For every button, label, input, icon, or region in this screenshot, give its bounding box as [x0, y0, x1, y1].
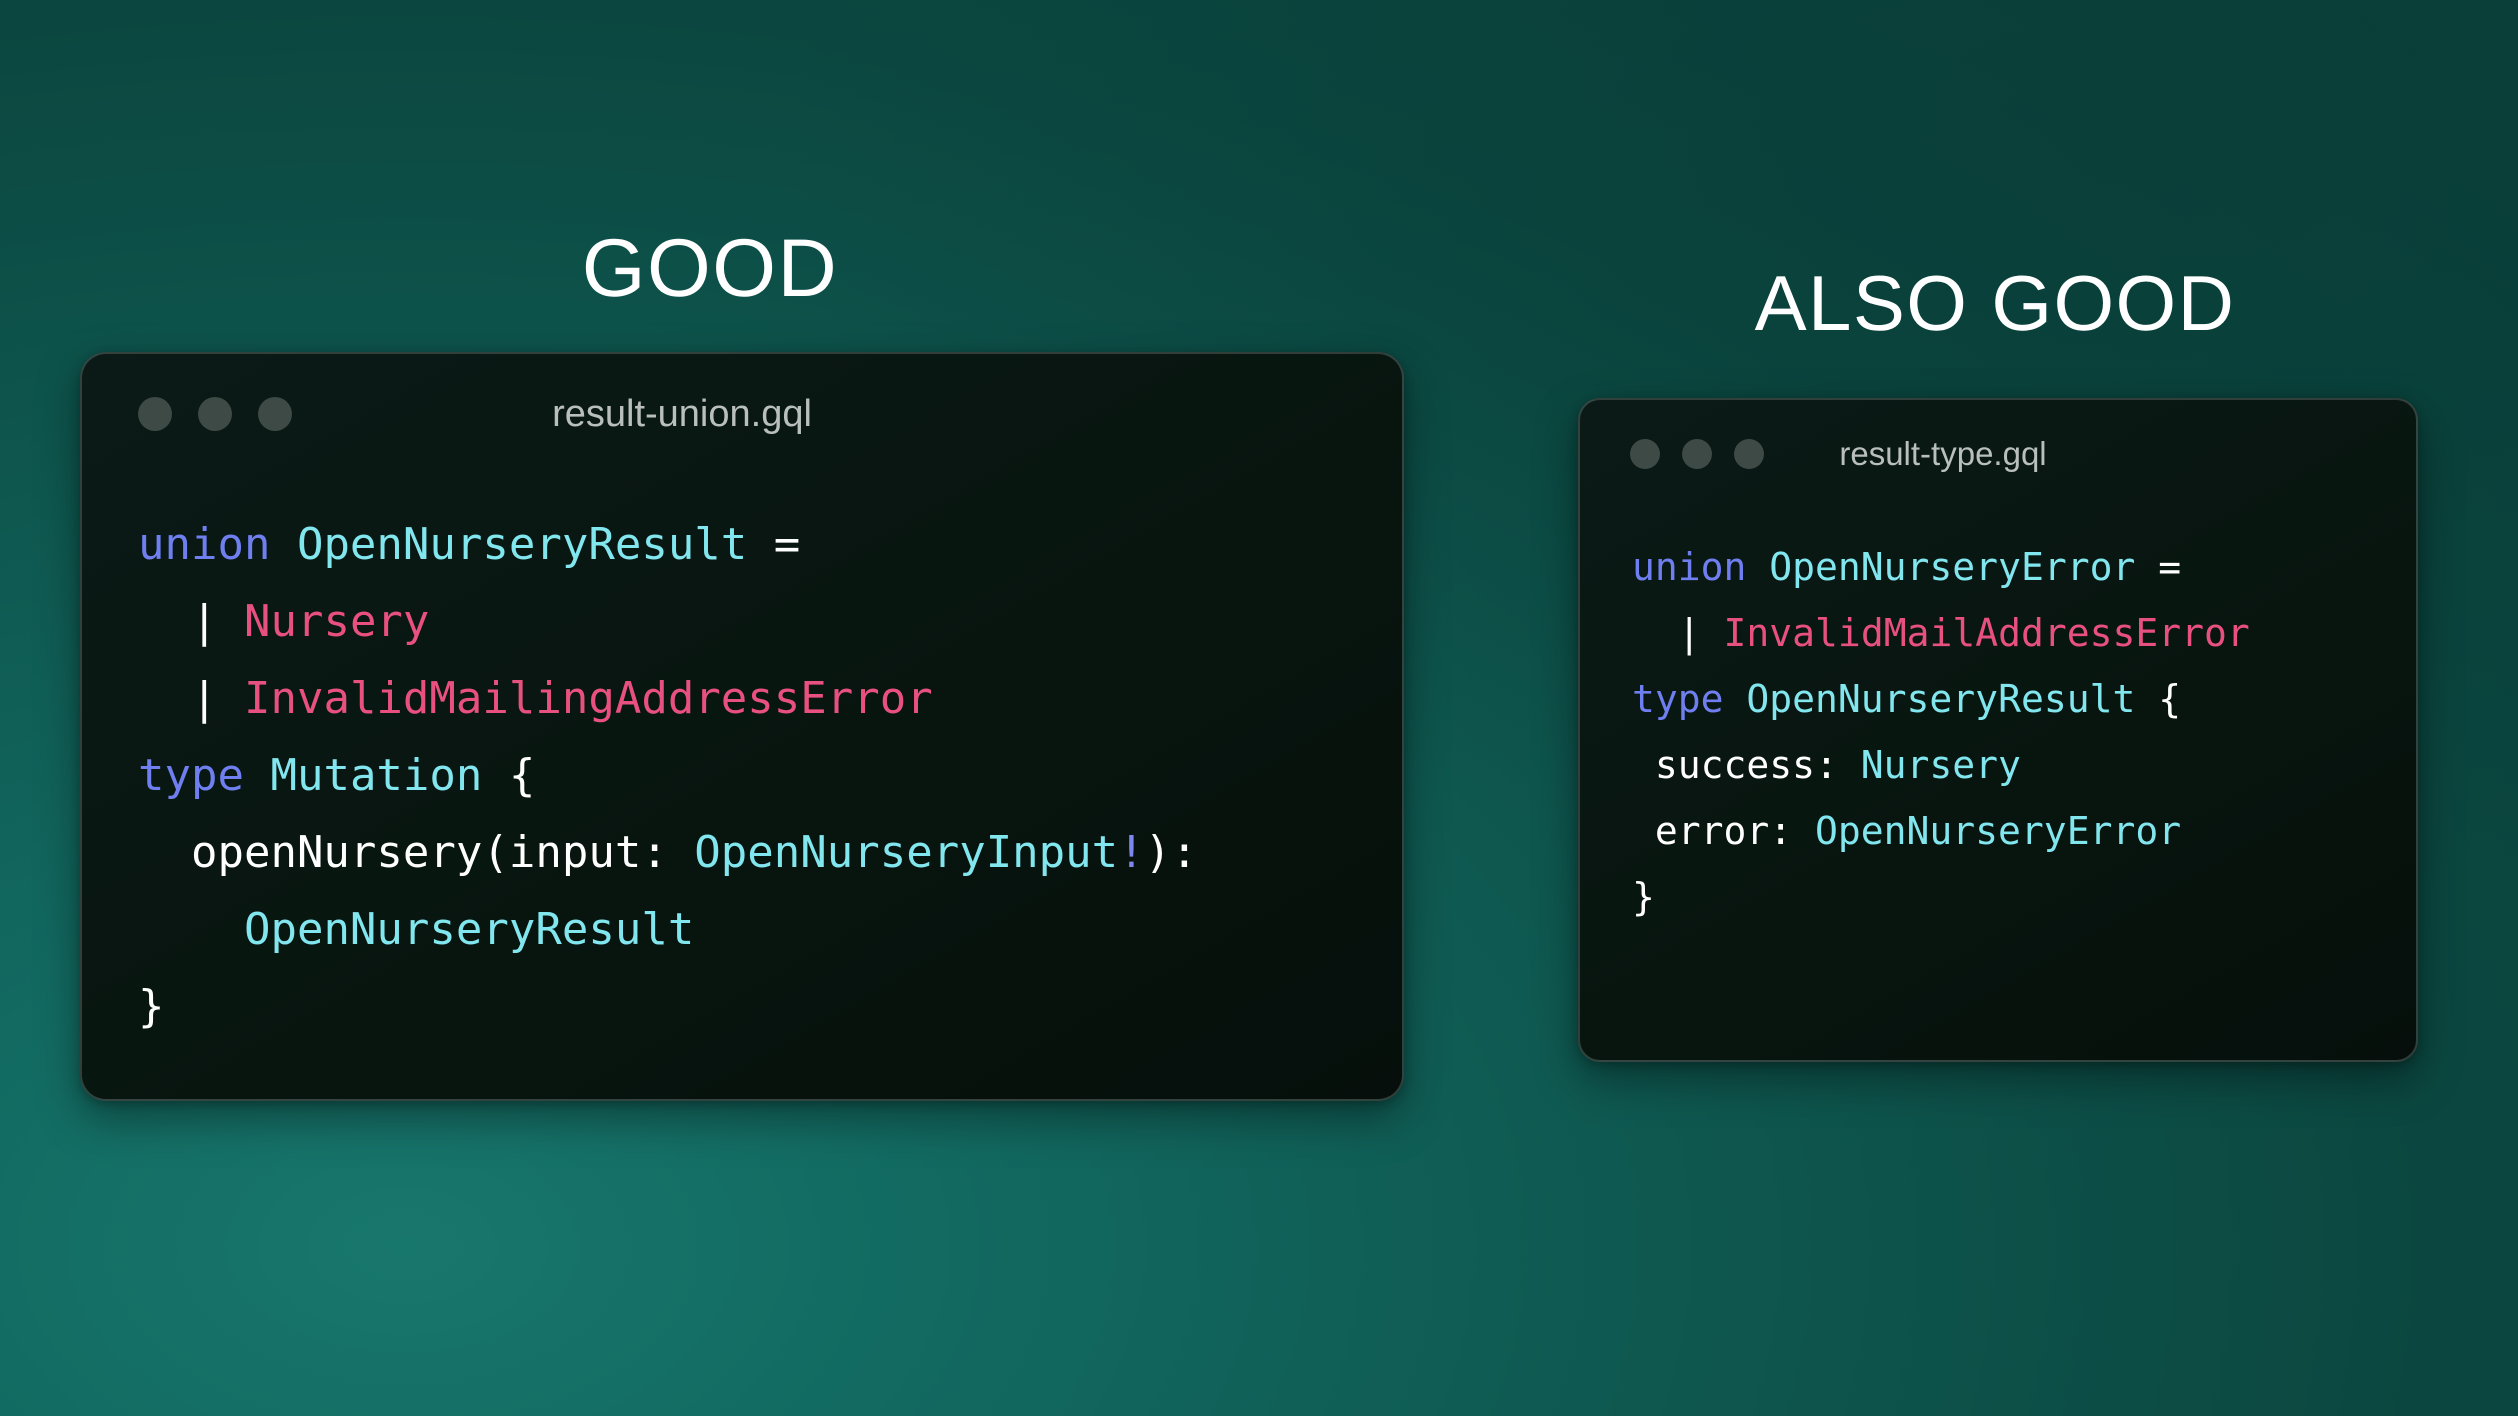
- code-token-punct: {: [2135, 677, 2181, 721]
- code-line: OpenNurseryResult: [138, 891, 1346, 968]
- code-line: union OpenNurseryResult =: [138, 506, 1346, 583]
- code-token-type: Mutation: [270, 750, 482, 801]
- code-line: openNursery(input: OpenNurseryInput!):: [138, 814, 1346, 891]
- code-token-keyword: union: [138, 519, 270, 570]
- code-token-type: Nursery: [1861, 743, 2021, 787]
- panel-heading-good: GOOD: [0, 228, 1420, 310]
- code-token-plain: [138, 673, 191, 724]
- code-token-type: OpenNurseryResult: [297, 519, 747, 570]
- code-line: type OpenNurseryResult {: [1632, 666, 2364, 732]
- code-token-type: OpenNurseryResult: [244, 904, 694, 955]
- code-line: success: Nursery: [1632, 732, 2364, 798]
- code-block-also-good: union OpenNurseryError = | InvalidMailAd…: [1580, 508, 2416, 930]
- code-token-plain: error:: [1632, 809, 1815, 853]
- code-token-type: OpenNurseryError: [1769, 545, 2135, 589]
- minimize-dot-icon[interactable]: [198, 397, 232, 431]
- code-token-pipe: |: [1678, 611, 1701, 655]
- code-line: | InvalidMailingAddressError: [138, 660, 1346, 737]
- code-token-error: Nursery: [244, 596, 429, 647]
- code-token-plain: [1724, 677, 1747, 721]
- code-token-pipe: |: [191, 673, 218, 724]
- code-block-good: union OpenNurseryResult = | Nursery | In…: [82, 474, 1402, 1045]
- code-token-plain: [1632, 611, 1678, 655]
- code-token-punct: }: [138, 981, 165, 1032]
- code-token-plain: success:: [1632, 743, 1861, 787]
- code-token-punct: }: [1632, 875, 1655, 919]
- code-line: }: [138, 968, 1346, 1045]
- code-token-pipe: |: [191, 596, 218, 647]
- code-token-plain: [1746, 545, 1769, 589]
- code-token-plain: [217, 596, 244, 647]
- code-line: union OpenNurseryError =: [1632, 534, 2364, 600]
- panel-heading-also-good: ALSO GOOD: [1580, 264, 2410, 342]
- code-token-plain: [244, 750, 271, 801]
- code-line: }: [1632, 864, 2364, 930]
- code-token-plain: [138, 904, 244, 955]
- code-token-punct: ):: [1145, 827, 1198, 878]
- close-dot-icon[interactable]: [1630, 439, 1660, 469]
- maximize-dot-icon[interactable]: [258, 397, 292, 431]
- code-token-error: InvalidMailAddressError: [1724, 611, 2250, 655]
- code-window-also-good: result-type.gql union OpenNurseryError =…: [1578, 398, 2418, 1062]
- code-token-plain: =: [2135, 545, 2204, 589]
- code-token-bang: !: [1118, 827, 1145, 878]
- code-line: | Nursery: [138, 583, 1346, 660]
- code-line: | InvalidMailAddressError: [1632, 600, 2364, 666]
- code-token-plain: =: [747, 519, 826, 570]
- code-token-type: OpenNurseryResult: [1746, 677, 2135, 721]
- code-token-keyword: union: [1632, 545, 1746, 589]
- code-token-keyword: type: [138, 750, 244, 801]
- code-token-keyword: type: [1632, 677, 1724, 721]
- minimize-dot-icon[interactable]: [1682, 439, 1712, 469]
- code-window-good: result-union.gql union OpenNurseryResult…: [80, 352, 1404, 1101]
- code-token-plain: [217, 673, 244, 724]
- window-controls-good: [138, 397, 292, 431]
- code-token-type: OpenNurseryError: [1815, 809, 2181, 853]
- code-token-plain: openNursery(input:: [138, 827, 694, 878]
- code-line: type Mutation {: [138, 737, 1346, 814]
- code-token-plain: [1701, 611, 1724, 655]
- titlebar-also-good: result-type.gql: [1580, 400, 2416, 508]
- close-dot-icon[interactable]: [138, 397, 172, 431]
- titlebar-good: result-union.gql: [82, 354, 1402, 474]
- code-token-plain: [270, 519, 297, 570]
- slide-stage: GOOD result-union.gql union OpenNurseryR…: [0, 0, 2518, 1416]
- code-token-plain: [138, 596, 191, 647]
- maximize-dot-icon[interactable]: [1734, 439, 1764, 469]
- code-token-punct: {: [482, 750, 535, 801]
- window-controls-also-good: [1630, 439, 1764, 469]
- code-line: error: OpenNurseryError: [1632, 798, 2364, 864]
- code-token-error: InvalidMailingAddressError: [244, 673, 933, 724]
- code-token-type: OpenNurseryInput: [694, 827, 1118, 878]
